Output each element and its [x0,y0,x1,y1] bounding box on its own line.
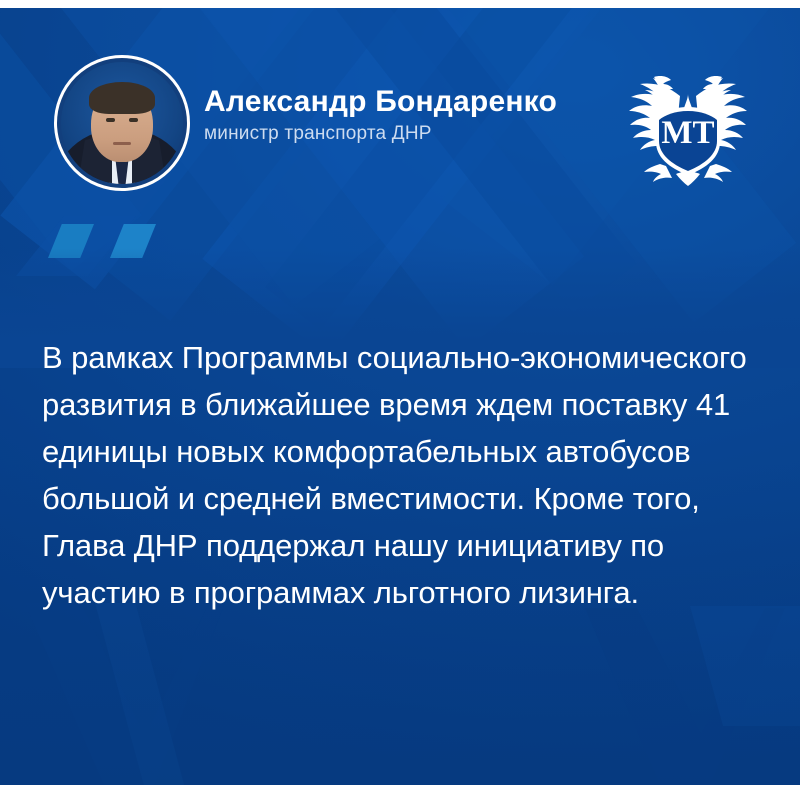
portrait-eye-left [106,118,115,122]
portrait-eye-right [129,118,138,122]
emblem-monogram: МТ [661,115,714,151]
quote-text-block: В рамках Программы социально-экономическ… [42,334,758,616]
speaker-name: Александр Бондаренко [204,86,557,118]
avatar [54,55,190,191]
speaker-role: министр транспорта ДНР [204,124,557,145]
portrait-mouth [113,142,131,145]
portrait-hair [89,82,155,114]
card-header: Александр Бондаренко министр транспорта … [0,8,800,213]
quote-text: В рамках Программы социально-экономическ… [42,334,758,616]
quote-card: Александр Бондаренко министр транспорта … [0,8,800,785]
avatar-photo [61,62,183,184]
ministry-emblem-icon: МТ [624,60,752,190]
speaker-info: Александр Бондаренко министр транспорта … [204,86,557,145]
